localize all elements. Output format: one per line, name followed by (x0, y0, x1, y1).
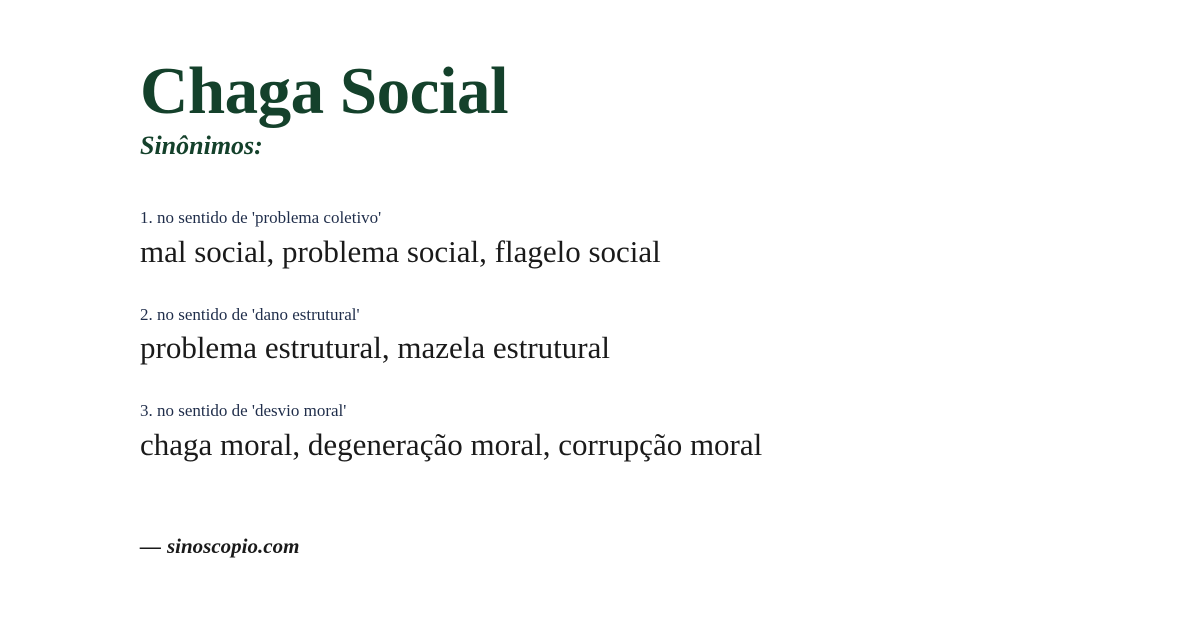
sense-block: 3. no sentido de 'desvio moral' chaga mo… (140, 400, 1160, 464)
sense-synonyms: chaga moral, degeneração moral, corrupçã… (140, 427, 1160, 464)
sense-label: 2. no sentido de 'dano estrutural' (140, 304, 1160, 327)
page-title: Chaga Social (140, 58, 508, 125)
sense-label: 3. no sentido de 'desvio moral' (140, 400, 1160, 423)
sense-label: 1. no sentido de 'problema coletivo' (140, 207, 1160, 230)
synonym-card: Chaga Social Sinônimos: 1. no sentido de… (0, 0, 1200, 628)
card-content: Chaga Social Sinônimos: 1. no sentido de… (140, 0, 1160, 628)
sense-list: 1. no sentido de 'problema coletivo' mal… (140, 207, 1160, 464)
synonyms-heading: Sinônimos: (140, 133, 263, 159)
sense-block: 2. no sentido de 'dano estrutural' probl… (140, 304, 1160, 368)
em-dash-icon: — (140, 534, 161, 558)
source-attribution: —sinoscopio.com (140, 534, 299, 559)
source-name: sinoscopio.com (167, 534, 299, 558)
sense-synonyms: mal social, problema social, flagelo soc… (140, 234, 1160, 271)
sense-synonyms: problema estrutural, mazela estrutural (140, 330, 1160, 367)
sense-block: 1. no sentido de 'problema coletivo' mal… (140, 207, 1160, 271)
